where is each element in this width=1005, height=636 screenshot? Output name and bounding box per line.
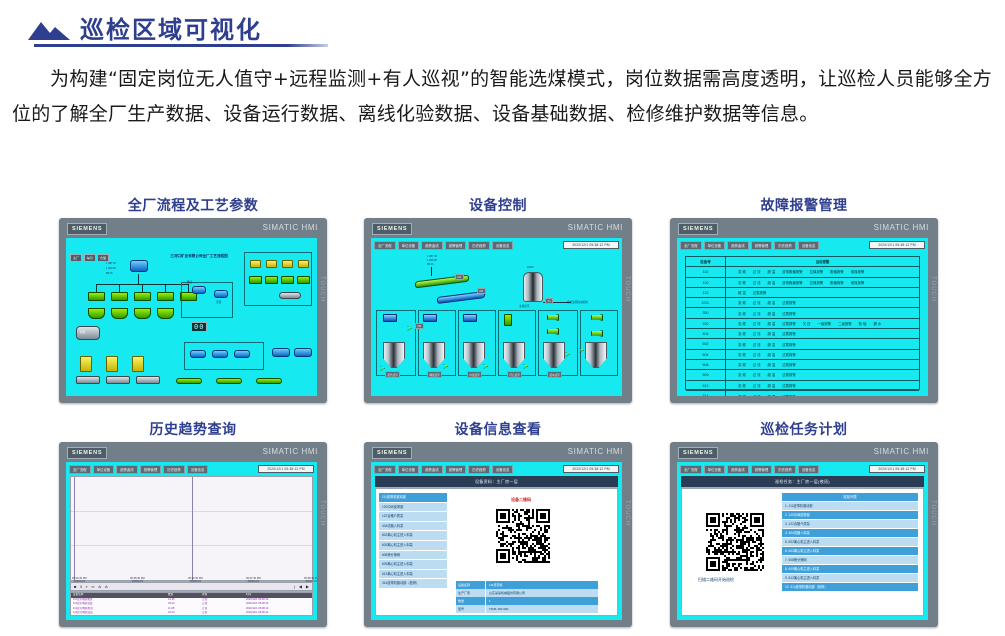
cell-alarm: 过 流	[753, 352, 761, 357]
motor-icon[interactable]	[383, 314, 397, 322]
cell-alarm: 过载报警	[782, 300, 796, 305]
flow-node[interactable]	[111, 292, 128, 301]
table-row[interactable]: 314变 频过 流超 温过载报警	[686, 391, 919, 396]
legend-row[interactable]: 112皮带电机温度42.60正常2020/12/1 05:38:12	[71, 611, 312, 616]
cell-alarm: 过 流	[753, 300, 761, 305]
hmi-model-label: SIMATIC HMI	[263, 223, 318, 232]
spec-key: 设备名称	[456, 581, 486, 589]
cell-alarm: 过 流	[753, 342, 761, 347]
table-row[interactable]: 220变 频过 流超 温过载报警欠 压一级报警二级报警断 轴漏 水	[686, 319, 919, 329]
flow-node[interactable]	[234, 350, 250, 358]
device-list-item[interactable]: 602离心机主进入料泵	[379, 531, 447, 541]
cell-alarm: 皮带跑偏报警	[782, 269, 802, 274]
hmi-nav-bar[interactable]: 全厂流程 单位设备 趋势曲线 报警管理 历史趋势 设备信息	[69, 465, 208, 474]
motor-icon[interactable]	[423, 314, 437, 322]
cell-device-id: 602	[686, 339, 726, 348]
spec-table: 设备名称111皮带机生产厂家山东某某机械股份有限公司数量1型号TD36-150-…	[456, 581, 598, 613]
cell-alarm: 一级报警	[818, 321, 832, 326]
cell-alarm: 过载报警	[782, 372, 796, 377]
nav-button-alarm-mgmt[interactable]: 报警管理	[140, 465, 162, 474]
cell-device-id: 220	[686, 319, 726, 328]
table-row[interactable]: 322L变 频过 流超 温过载报警	[686, 298, 919, 308]
table-row[interactable]: 120变 频过 流超 温皮带跑偏报警拉绳报警跑偏报警堆煤报警	[686, 278, 919, 288]
tag-equip-3[interactable]: 矸石皮带	[507, 371, 522, 378]
flow-wire	[142, 284, 143, 292]
cell-alarm: 变 频	[738, 321, 746, 326]
legend-value: 42.60	[166, 611, 200, 616]
device-list-item[interactable]: 111皮带机驱动部	[379, 493, 447, 503]
cell-device-id: 350	[686, 308, 726, 317]
prev-icon[interactable]: ◀	[299, 585, 302, 589]
table-row[interactable]: 604变 频过 流超 温过载报警	[686, 350, 919, 360]
flow-node[interactable]	[214, 290, 228, 298]
nav-button-history-trend[interactable]: 历史趋势	[774, 241, 796, 250]
hmi-screen: 全厂流程 单位设备 趋势曲线 报警管理 历史趋势 设备信息 2020/12/1 …	[371, 462, 622, 620]
cell-alarm: 变 频	[738, 342, 746, 347]
touch-label: TOUCH	[317, 478, 325, 548]
body-paragraph: 为构建“固定岗位无人值守+远程监测+有人巡视”的智能选煤模式，岗位数据需高度透明…	[12, 62, 992, 132]
flow-node[interactable]	[272, 348, 290, 357]
hmi-device: SIEMENS SIMATIC HMI TOUCH 全厂流程 单位设备 趋势曲线…	[670, 442, 938, 627]
task-row[interactable]: 1. 111皮带机驱动部	[782, 502, 918, 511]
spec-key: 数量	[456, 597, 486, 605]
flow-subgroup-frame	[181, 282, 233, 318]
nav-button-alarm-mgmt[interactable]: 报警管理	[445, 241, 467, 250]
cell-alarm: 跑偏报警	[830, 280, 844, 285]
flow-node[interactable]	[256, 378, 282, 384]
hmi-screen: 全厂流程 单位设备 趋势曲线 报警管理 历史趋势 设备信息 2020/12/1 …	[371, 238, 622, 396]
spec-key: 生产厂家	[456, 589, 486, 597]
device-list-item[interactable]: 612离心机主进入料泵	[379, 570, 447, 580]
nav-button-plant-flow[interactable]: 全厂流程	[374, 241, 396, 250]
nav-button-trend-curve[interactable]: 趋势曲线	[727, 241, 749, 250]
cursor-line[interactable]	[192, 477, 193, 580]
cell-alarm: 变 频	[738, 362, 746, 367]
flow-node[interactable]	[266, 260, 277, 268]
spec-value: 1	[486, 597, 598, 605]
legend-rows: 111皮带电机电流12.35正常2020/12/1 05:38:12111皮带电…	[71, 598, 312, 616]
record-icon[interactable]: ▪	[86, 585, 87, 589]
flow-node[interactable]	[294, 348, 312, 357]
trend-legend-table[interactable]: 变量名称 数值 状态 时间 111皮带电机电流12.35正常2020/12/1 …	[70, 592, 313, 616]
tank-level-label: 100%	[527, 266, 534, 269]
flow-btn-2[interactable]: 仓储	[97, 254, 109, 262]
control-hint: 仓位监测自动控制	[567, 300, 588, 304]
nav-button-unit-device[interactable]: 单位设备	[398, 241, 420, 250]
cell-alarm: 超 温	[767, 269, 775, 274]
device-list[interactable]: 111皮带机驱动部120中间皮带部122合格介质泵404浓缩入料泵602离心机主…	[379, 493, 447, 589]
cell-alarm: 超 温	[767, 372, 775, 377]
cell-alarm: 欠 压	[803, 321, 811, 326]
touch-label: TOUCH	[928, 254, 936, 324]
panel-plant-flow: 全厂流程及工艺参数 SIEMENS SIMATIC HMI TOUCH 主厂 车…	[40, 196, 346, 403]
ruler-icon[interactable]: ═	[92, 585, 95, 589]
device-list-item[interactable]: 404浓缩入料泵	[379, 522, 447, 532]
task-table-header: 巡检列表	[782, 493, 918, 502]
alarm-table[interactable]: 设备号当前报警110变 频过 流超 温皮带跑偏报警拉绳报警跑偏报警堆煤报警120…	[685, 256, 920, 390]
spec-value: TD36-150-900	[486, 605, 598, 613]
panel-inspection-task: 巡检任务计划 SIEMENS SIMATIC HMI TOUCH 全厂流程 单位…	[651, 420, 957, 627]
nav-button-alarm-mgmt[interactable]: 报警管理	[751, 465, 773, 474]
flow-node[interactable]	[111, 308, 128, 319]
clock-display: 2020/12/1 05:38:12 PM	[563, 465, 619, 473]
cell-device-id: 110	[686, 267, 726, 276]
cell-alarm: 变 频	[738, 311, 746, 316]
cell-alarm: 过 流	[753, 269, 761, 274]
zoom-out-icon[interactable]: A	[105, 585, 108, 589]
control-readout-0: 1 387 t/h	[427, 255, 437, 258]
hmi-device: SIEMENS SIMATIC HMI TOUCH 全厂流程 单位设备 趋势曲线…	[364, 218, 632, 403]
cell-device-id: 314	[686, 391, 726, 396]
tag-equip-4[interactable]: 装车皮带	[547, 371, 562, 378]
nav-button-device-info[interactable]: 设备信息	[187, 465, 209, 474]
cell-device-id: 322L	[686, 298, 726, 307]
flow-node[interactable]	[132, 356, 144, 372]
table-row[interactable]: 609变 频过 流超 温过载报警	[686, 370, 919, 380]
cell-alarm: 过 流	[753, 311, 761, 316]
flow-readout-2: 85 t/h	[106, 272, 113, 275]
flow-top-buttons[interactable]: 主厂 车间 仓储	[70, 254, 109, 262]
siemens-logo: SIEMENS	[678, 223, 718, 235]
tag-m3[interactable]: M3	[415, 323, 424, 329]
cell-alarm: 过载报警	[782, 311, 796, 316]
hmi-model-label: SIMATIC HMI	[568, 223, 623, 232]
flow-node[interactable]	[134, 292, 151, 301]
spec-value: 111皮带机	[486, 581, 598, 589]
flow-node[interactable]	[281, 276, 294, 284]
hmi-model-label: SIMATIC HMI	[874, 447, 929, 456]
spec-value: 山东某某机械股份有限公司	[486, 589, 598, 597]
touch-label: TOUCH	[622, 254, 630, 324]
trend-plot-area[interactable]	[70, 476, 313, 581]
tag-m2[interactable]: M2	[477, 288, 486, 294]
task-row[interactable]: 9. 612离心机主进入料泵	[782, 574, 918, 583]
nav-button-device-info[interactable]: 设备信息	[492, 241, 514, 250]
hmi-screen: 全厂流程 单位设备 趋势曲线 报警管理 历史趋势 设备信息 2020/12/1 …	[677, 238, 928, 396]
cell-alarm: 过载报警	[782, 321, 796, 326]
hmi-device: SIEMENS SIMATIC HMI TOUCH 全厂流程 单位设备 趋势曲线…	[59, 442, 327, 627]
control-wire	[431, 267, 432, 276]
flow-node[interactable]	[80, 356, 92, 372]
flow-node[interactable]	[297, 276, 310, 284]
table-row[interactable]: 122超 温过载报警	[686, 288, 919, 298]
device-list-item[interactable]: 120中间皮带部	[379, 503, 447, 513]
flow-node[interactable]	[157, 292, 174, 301]
cell-alarm: 变 频	[738, 352, 746, 357]
nav-button-plant-flow[interactable]: 全厂流程	[680, 465, 702, 474]
tag-m1[interactable]: M1	[455, 274, 464, 280]
cell-alarm: 拉绳报警	[810, 269, 824, 274]
hmi-nav-bar[interactable]: 全厂流程 单位设备 趋势曲线 报警管理 历史趋势 设备信息	[680, 241, 819, 250]
nav-button-trend-curve[interactable]: 趋势曲线	[421, 241, 443, 250]
hmi-nav-bar[interactable]: 全厂流程 单位设备 趋势曲线 报警管理 历史趋势 设备信息	[374, 241, 513, 250]
tag-equip-0[interactable]: 配仓皮带	[385, 371, 400, 378]
nav-button-plant-flow[interactable]: 全厂流程	[69, 465, 91, 474]
hmi-nav-bar[interactable]: 全厂流程 单位设备 趋势曲线 报警管理 历史趋势 设备信息	[374, 465, 513, 474]
hmi-model-label: SIMATIC HMI	[874, 223, 929, 232]
spec-row: 数量1	[456, 597, 598, 605]
task-rows: 1. 111皮带机驱动部2. 120中间皮带部3. 122合格介质泵4. 404…	[782, 502, 918, 592]
hmi-screen: 全厂流程 单位设备 趋势曲线 报警管理 历史趋势 设备信息 2020/12/1 …	[66, 462, 317, 620]
task-row[interactable]: 6. 603离心机主进入料泵	[782, 547, 918, 556]
table-row[interactable]: 612变 频过 流超 温过载报警	[686, 381, 919, 391]
motor-icon[interactable]	[463, 314, 477, 322]
flow-node[interactable]	[76, 376, 100, 384]
flow-node[interactable]	[176, 378, 202, 384]
clock-display: 2020/12/1 05:38:12 PM	[258, 465, 314, 473]
hmi-screen: 主厂 车间 仓储 三河口矿业有限公司全厂工艺流程图 1 387 t/h 1 20…	[66, 238, 317, 396]
cell-alarm: 过 流	[753, 383, 761, 388]
tank-bottom-label: 主井皮带	[519, 304, 529, 308]
feeder-icon[interactable]	[504, 314, 512, 326]
device-list-item[interactable]: 314皮带机驱动部（检修）	[379, 579, 447, 589]
cell-alarm: 超 温	[767, 352, 775, 357]
flow-node[interactable]	[106, 376, 130, 384]
info-title-bar: 巡检任务：主厂房一层(夜班)	[681, 476, 924, 487]
flow-node[interactable]	[298, 260, 309, 268]
column-header-alarm: 当前报警	[816, 259, 830, 264]
hmi-device: SIEMENS SIMATIC HMI TOUCH 全厂流程 单位设备 趋势曲线…	[670, 218, 938, 403]
flow-wire	[119, 284, 120, 292]
flow-node[interactable]	[212, 350, 228, 358]
device-list-item[interactable]: 608筛分筛网	[379, 551, 447, 561]
cell-device-id: 612	[686, 381, 726, 390]
cell-alarm: 堆煤报警	[851, 269, 865, 274]
panel-caption: 设备信息查看	[345, 420, 651, 442]
table-row[interactable]: 404变 频过 流超 温过载报警	[686, 329, 919, 339]
cell-alarm: 过载报警	[782, 352, 796, 357]
flow-node[interactable]	[265, 276, 278, 284]
cell-alarm: 超 温	[767, 362, 775, 367]
siemens-logo: SIEMENS	[678, 447, 718, 459]
flow-readout-0: 1 387 t/h	[106, 262, 116, 265]
cell-alarm: 变 频	[738, 394, 746, 397]
title-underline	[34, 44, 328, 47]
hmi-screen: 全厂流程 单位设备 趋势曲线 报警管理 历史趋势 设备信息 2020/12/1 …	[677, 462, 928, 620]
flow-node[interactable]	[216, 378, 242, 384]
legend-name: 112皮带电机温度	[71, 611, 166, 616]
digital-readout: 00	[191, 322, 207, 332]
section-header: 巡检区域可视化	[28, 8, 328, 46]
cell-alarm: 变 频	[738, 269, 746, 274]
flow-node-label: 原煤	[80, 330, 85, 334]
device-list-item[interactable]: 609离心机主进入料泵	[379, 560, 447, 570]
tag-v1[interactable]: V1	[545, 298, 553, 304]
device-list-item[interactable]: 603离心机主进入料泵	[379, 541, 447, 551]
cell-alarm: 二级报警	[838, 321, 852, 326]
panel-device-control: 设备控制 SIEMENS SIMATIC HMI TOUCH 全厂流程 单位设备…	[345, 196, 651, 403]
task-row[interactable]: 5. 602离心机主进入料泵	[782, 538, 918, 547]
flow-node[interactable]	[249, 276, 262, 284]
flow-node[interactable]	[136, 376, 160, 384]
cell-alarm: 变 频	[738, 372, 746, 377]
control-readout-2: 85 t/h	[427, 263, 434, 266]
flow-node-main[interactable]	[130, 260, 148, 272]
next-icon[interactable]: ▶	[306, 585, 309, 589]
nav-button-alarm-mgmt[interactable]: 报警管理	[445, 465, 467, 474]
cell-alarm: 变 频	[738, 383, 746, 388]
cell-alarm: 过 流	[753, 372, 761, 377]
cell-alarm: 皮带跑偏报警	[782, 280, 802, 285]
cell-alarm: 过载报警	[782, 394, 796, 397]
table-row[interactable]: 350变 频过 流超 温过载报警	[686, 308, 919, 318]
column-header-id: 设备号	[686, 257, 726, 266]
cell-alarm: 过 流	[753, 280, 761, 285]
trend-toolbar[interactable]: ■ ‖ ▪ ═ A A | ◀ ▶	[70, 582, 313, 591]
page-title: 巡检区域可视化	[80, 10, 262, 45]
table-row[interactable]: 110变 频过 流超 温皮带跑偏报警拉绳报警跑偏报警堆煤报警	[686, 267, 919, 277]
cell-device-id: 604	[686, 350, 726, 359]
hmi-device: SIEMENS SIMATIC HMI TOUCH 全厂流程 单位设备 趋势曲线…	[364, 442, 632, 627]
task-row[interactable]: 4. 404浓缩入料泵	[782, 529, 918, 538]
spec-row: 生产厂家山东某某机械股份有限公司	[456, 589, 598, 597]
mountain-icon	[28, 20, 70, 40]
flow-node[interactable]	[88, 292, 105, 301]
cell-alarm: 变 频	[738, 331, 746, 336]
legend-time: 2020/12/1 05:38:12	[244, 611, 312, 616]
panel-history-trend: 历史趋势查询 SIEMENS SIMATIC HMI TOUCH 全厂流程 单位…	[40, 420, 346, 627]
flow-wire	[96, 284, 97, 292]
hmi-device: SIEMENS SIMATIC HMI TOUCH 主厂 车间 仓储 三河口矿业…	[59, 218, 327, 403]
flow-node[interactable]	[88, 308, 105, 319]
task-row[interactable]: 8. 609离心机主进入料泵	[782, 565, 918, 574]
device-list-item[interactable]: 122合格介质泵	[379, 512, 447, 522]
cell-alarm: 过载报警	[782, 362, 796, 367]
nav-button-device-info[interactable]: 设备信息	[492, 465, 514, 474]
hmi-model-label: SIMATIC HMI	[568, 447, 623, 456]
cell-alarm: 变 频	[738, 280, 746, 285]
flow-node[interactable]	[190, 350, 206, 358]
table-row[interactable]: 608变 频过 流超 温过载报警	[686, 360, 919, 370]
flow-node[interactable]	[157, 308, 174, 319]
task-row[interactable]: 2. 120中间皮带部	[782, 511, 918, 520]
cell-alarm: 过 流	[753, 331, 761, 336]
info-body: 111皮带机驱动部120中间皮带部122合格介质泵404浓缩入料泵602离心机主…	[375, 488, 618, 616]
flow-node-label: 浮选	[216, 300, 221, 304]
cell-alarm: 超 温	[767, 394, 775, 397]
siemens-logo: SIEMENS	[372, 447, 412, 459]
panel-alarm-management: 故障报警管理 SIEMENS SIMATIC HMI TOUCH 全厂流程 单位…	[651, 196, 957, 403]
cell-device-id: 404	[686, 329, 726, 338]
nav-button-unit-device[interactable]: 单位设备	[704, 465, 726, 474]
spec-key: 型号	[456, 605, 486, 613]
clock-display: 2020/12/1 05:38:12 PM	[869, 241, 925, 249]
task-row[interactable]: 3. 122合格介质泵	[782, 520, 918, 529]
qr-code[interactable]	[704, 511, 765, 572]
cell-alarm: 堆煤报警	[851, 280, 865, 285]
cell-alarm: 变 频	[738, 300, 746, 305]
nav-button-device-info[interactable]: 设备信息	[798, 241, 820, 250]
clock-display: 2020/12/1 05:38:12 PM	[563, 241, 619, 249]
flow-btn-1[interactable]: 车间	[84, 254, 96, 262]
nav-button-unit-device[interactable]: 单位设备	[93, 465, 115, 474]
cell-alarm: 超 温	[767, 311, 775, 316]
panel-caption: 设备控制	[345, 196, 651, 218]
spec-row: 型号TD36-150-900	[456, 605, 598, 613]
cell-alarm: 超 温	[767, 342, 775, 347]
stop-icon[interactable]: ■	[74, 585, 76, 589]
cell-alarm: 跑偏报警	[830, 269, 844, 274]
nav-button-unit-device[interactable]: 单位设备	[398, 465, 420, 474]
cell-alarm: 超 温	[767, 280, 775, 285]
nav-button-device-info[interactable]: 设备信息	[798, 465, 820, 474]
flow-node[interactable]	[192, 286, 206, 294]
qr-code[interactable]	[494, 507, 551, 564]
nav-button-history-trend[interactable]: 历史趋势	[468, 465, 490, 474]
nav-button-plant-flow[interactable]: 全厂流程	[374, 465, 396, 474]
cell-alarm: 断 轴	[859, 321, 867, 326]
qr-caption: 扫描二维码开始巡检	[698, 577, 734, 583]
legend-status: 正常	[200, 611, 244, 616]
hmi-model-label: SIMATIC HMI	[263, 447, 318, 456]
flow-wire	[138, 274, 139, 284]
cell-alarm: 漏 水	[873, 321, 881, 326]
nav-button-unit-device[interactable]: 单位设备	[704, 241, 726, 250]
siemens-logo: SIEMENS	[372, 223, 412, 235]
flow-node[interactable]	[106, 356, 118, 372]
siemens-logo: SIEMENS	[67, 223, 107, 235]
flow-readout-1: 1 203 t/h	[106, 267, 116, 270]
task-row[interactable]: 10. 314皮带机驱动部（检修）	[782, 583, 918, 592]
nav-button-history-trend[interactable]: 历史趋势	[774, 465, 796, 474]
zoom-in-icon[interactable]: A	[98, 585, 101, 589]
cell-alarm: 过载报警	[782, 342, 796, 347]
flow-node[interactable]	[250, 260, 261, 268]
touch-label: TOUCH	[928, 478, 936, 548]
nav-button-trend-curve[interactable]: 趋势曲线	[116, 465, 138, 474]
nav-button-trend-curve[interactable]: 趋势曲线	[727, 465, 749, 474]
tag-equip-2[interactable]: 中煤皮带	[467, 371, 482, 378]
pause-icon[interactable]: ‖	[80, 585, 82, 589]
siemens-logo: SIEMENS	[67, 447, 107, 459]
nav-button-plant-flow[interactable]: 全厂流程	[680, 241, 702, 250]
cell-alarm: 过 流	[753, 321, 761, 326]
flow-node[interactable]	[282, 260, 293, 268]
cursor-line[interactable]	[74, 477, 75, 580]
hmi-nav-bar[interactable]: 全厂流程 单位设备 趋势曲线 报警管理 历史趋势 设备信息	[680, 465, 819, 474]
task-table[interactable]: 巡检列表 1. 111皮带机驱动部2. 120中间皮带部3. 122合格介质泵4…	[782, 493, 918, 592]
spec-row: 设备名称111皮带机	[456, 581, 598, 589]
cell-alarm: 超 温	[767, 321, 775, 326]
cell-alarm: 过 流	[753, 394, 761, 397]
flow-btn-0[interactable]: 主厂	[70, 254, 82, 262]
cell-alarm: 过载报警	[753, 290, 767, 295]
cell-device-id: 608	[686, 360, 726, 369]
cell-alarm: 超 温	[767, 383, 775, 388]
panel-caption: 故障报警管理	[651, 196, 957, 218]
nav-button-history-trend[interactable]: 历史趋势	[468, 241, 490, 250]
nav-button-alarm-mgmt[interactable]: 报警管理	[751, 241, 773, 250]
storage-tank[interactable]	[523, 272, 543, 302]
flow-node[interactable]	[279, 292, 301, 299]
qr-title: 设备二维码	[511, 497, 531, 503]
cell-alarm: 超 温	[767, 331, 775, 336]
flow-diagram-title: 三河口矿业有限公司全厂工艺流程图	[144, 254, 254, 259]
cell-alarm: 过载报警	[782, 331, 796, 336]
flow-node-label: 跳汰	[187, 280, 192, 284]
cursor-icon[interactable]: |	[294, 585, 295, 589]
cell-device-id: 609	[686, 370, 726, 379]
nav-button-trend-curve[interactable]: 趋势曲线	[421, 465, 443, 474]
flow-node[interactable]	[134, 308, 151, 319]
table-header-row: 设备号当前报警	[686, 257, 919, 267]
task-row[interactable]: 7. 608筛分筛网	[782, 556, 918, 565]
cell-alarm: 超 温	[767, 300, 775, 305]
touch-label: TOUCH	[317, 254, 325, 324]
tag-equip-1[interactable]: 精煤皮带	[427, 371, 442, 378]
table-row[interactable]: 602变 频过 流超 温过载报警	[686, 339, 919, 349]
nav-button-history-trend[interactable]: 历史趋势	[163, 465, 185, 474]
